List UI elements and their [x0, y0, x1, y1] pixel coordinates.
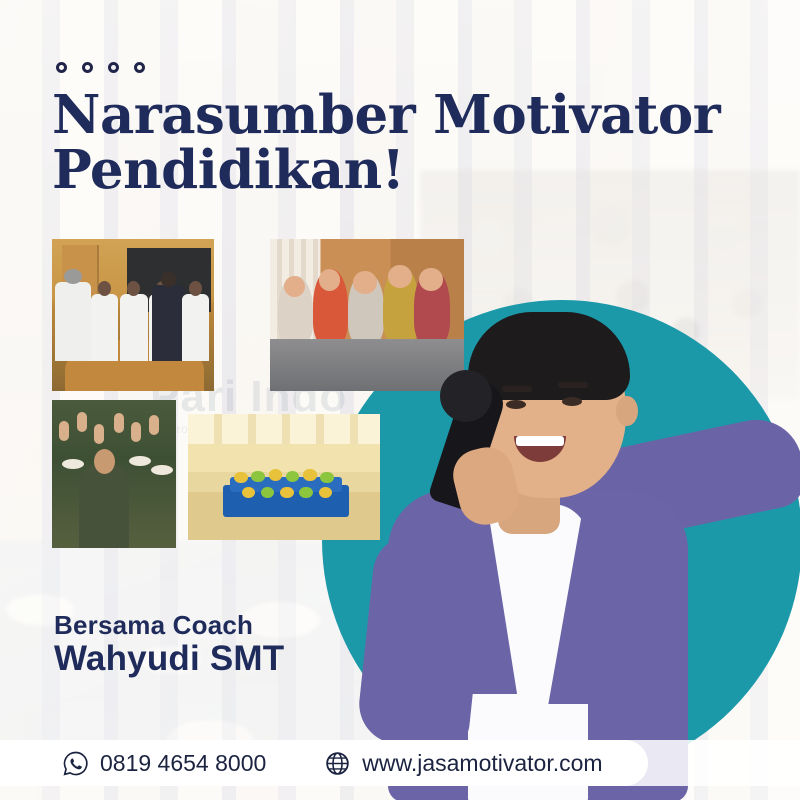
photo-meeting-handshake: [52, 239, 214, 391]
coach-prefix: Bersama Coach: [54, 610, 284, 641]
dot-icon: [82, 62, 93, 73]
contact-phone[interactable]: 0819 4654 8000: [62, 750, 266, 777]
dot-icon: [56, 62, 67, 73]
photo-raised-hands: [52, 400, 176, 548]
globe-icon: [324, 750, 351, 777]
decorative-dots: [56, 62, 145, 73]
footer-contact-bar: 0819 4654 8000 www.jasamotivator.com: [0, 740, 648, 786]
coach-name-block: Bersama Coach Wahyudi SMT: [54, 610, 284, 679]
page-title: Narasumber Motivator Pendidikan!: [52, 88, 752, 197]
speaker-photo: [330, 268, 800, 800]
website-url: www.jasamotivator.com: [362, 750, 602, 777]
dot-icon: [108, 62, 119, 73]
whatsapp-icon: [62, 750, 89, 777]
poster: Pari Indo an Prof Narasumber Motivator P…: [0, 0, 800, 800]
coach-name: Wahyudi SMT: [54, 639, 284, 679]
contact-website[interactable]: www.jasamotivator.com: [324, 750, 602, 777]
phone-number: 0819 4654 8000: [100, 750, 266, 777]
dot-icon: [134, 62, 145, 73]
